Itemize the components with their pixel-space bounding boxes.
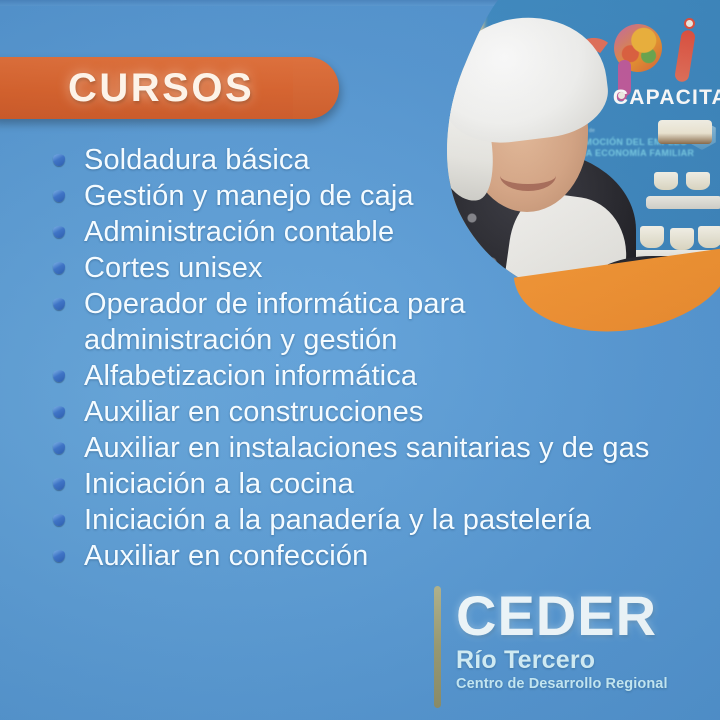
course-label: Cortes unisex [84,250,680,286]
course-list-item[interactable]: Iniciación a la cocina [50,466,680,502]
course-list-item[interactable]: Cortes unisex [50,250,680,286]
course-label: Administración contable [84,214,680,250]
cupcake-icon [686,172,710,190]
course-list-item[interactable]: Auxiliar en confección [50,538,680,574]
ceder-logo-city: Río Tercero [456,646,706,674]
diamond-bullet-icon [53,550,65,562]
diamond-bullet-icon [53,442,65,454]
ceder-logo[interactable]: CEDER Río Tercero Centro de Desarrollo R… [456,588,706,693]
course-list-item[interactable]: Auxiliar en construcciones [50,394,680,430]
diamond-bullet-icon [53,478,65,490]
diamond-bullet-icon [53,154,65,166]
course-list-item[interactable]: Administración contable [50,214,680,250]
course-list-item[interactable]: Operador de informática para administrac… [50,286,584,358]
cursos-banner-title: CURSOS [68,62,254,114]
course-label: Auxiliar en construcciones [84,394,680,430]
course-label: Gestión y manejo de caja [84,178,680,214]
cupcake-icon [698,226,720,248]
course-label: Operador de informática para administrac… [84,286,584,358]
course-list-item[interactable]: Iniciación a la panadería y la pastelerí… [50,502,680,538]
course-list: Soldadura básica Gestión y manejo de caj… [50,142,680,574]
course-label: Alfabetizacion informática [84,358,680,394]
diamond-bullet-icon [53,226,65,238]
diamond-bullet-icon [53,262,65,274]
diamond-bullet-icon [53,406,65,418]
ceder-logo-divider [434,586,441,708]
ceder-logo-name: CEDER [456,588,706,644]
course-list-item[interactable]: Alfabetizacion informática [50,358,680,394]
diamond-bullet-icon [53,298,65,310]
course-label: Auxiliar en instalaciones sanitarias y d… [84,430,674,466]
ceder-logo-description: Centro de Desarrollo Regional [456,675,706,693]
diamond-bullet-icon [53,370,65,382]
cpa-letter-a-icon [674,29,696,83]
course-label: Auxiliar en confección [84,538,680,574]
course-list-item[interactable]: Auxiliar en instalaciones sanitarias y d… [50,430,674,466]
cake-icon [658,120,712,144]
course-label: Soldadura básica [84,142,680,178]
poster-canvas: ME CAPACITA Ministerio de PROMOCIÓN DEL … [0,0,720,720]
course-label: Iniciación a la panadería y la pastelerí… [84,502,680,538]
course-list-item[interactable]: Soldadura básica [50,142,680,178]
cpa-letter-a-dot-icon [684,18,695,29]
diamond-bullet-icon [53,514,65,526]
course-list-item[interactable]: Gestión y manejo de caja [50,178,680,214]
diamond-bullet-icon [53,190,65,202]
course-label: Iniciación a la cocina [84,466,680,502]
